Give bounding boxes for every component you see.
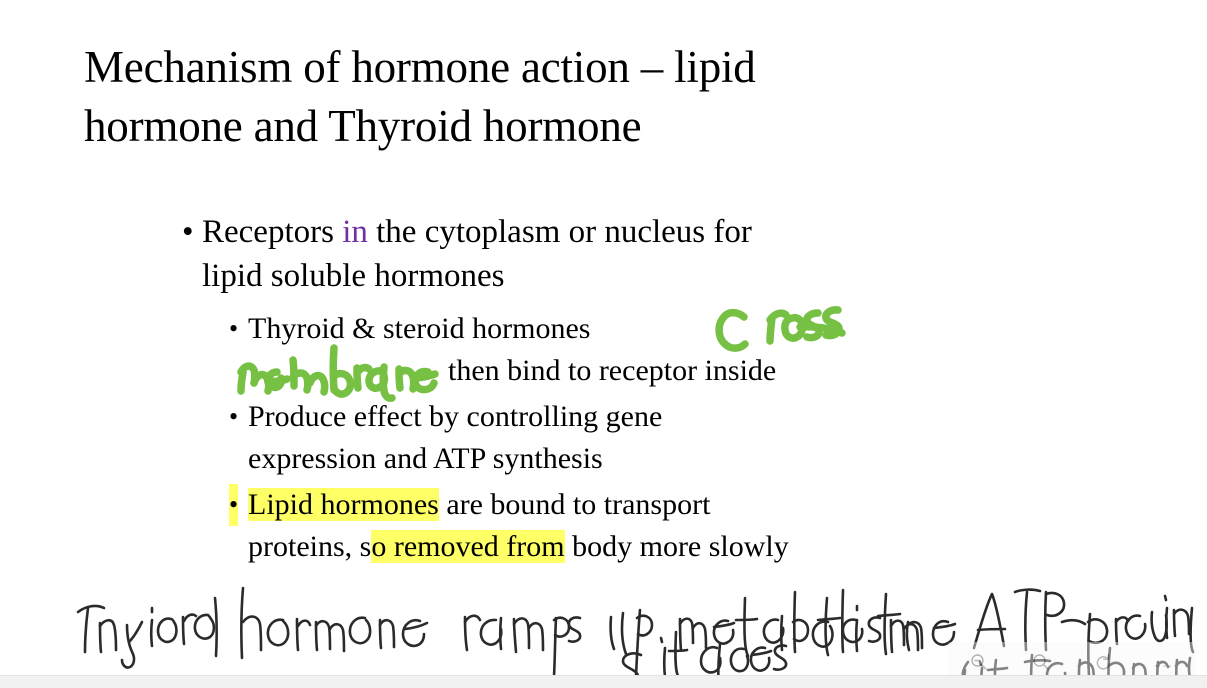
slide-body: • Receptors in the cytoplasm or nucleus …	[180, 210, 1140, 569]
bullet-text-segment: Receptors	[202, 214, 342, 250]
zoom-out-icon[interactable]	[962, 647, 996, 677]
bullet-text-segment: are bound to transport	[439, 488, 711, 521]
bullet-glyph: •	[182, 210, 194, 254]
bullet-text-emphasis-in: in	[342, 214, 368, 250]
bullet-line-1: Produce effect by controlling gene	[248, 396, 1140, 438]
bullet-line-2: proteins, so removed from body more slow…	[248, 526, 1140, 568]
bullet-glyph: •	[229, 484, 238, 526]
bullet-glyph: •	[229, 396, 238, 438]
bullet-line-1: Receptors in the cytoplasm or nucleus fo…	[202, 210, 1140, 254]
bullet-text-segment: proteins, s	[248, 530, 371, 563]
bullet-text-segment: the cytoplasm or nucleus for	[368, 214, 752, 250]
bullet-glyph: •	[229, 308, 238, 350]
bullet-item-produce-effect: • Produce effect by controlling gene exp…	[226, 396, 1140, 480]
reset-rotate-icon[interactable]	[1086, 647, 1120, 677]
highlighted-text-lipid-hormones: Lipid hormones	[248, 488, 439, 521]
title-line-2: hormone and Thyroid hormone	[84, 97, 984, 156]
title-line-1: Mechanism of hormone action – lipid	[84, 38, 984, 97]
highlighted-text-removed-from: o removed from	[371, 530, 564, 563]
bullet-line-1: Thyroid & steroid hormones	[248, 308, 1140, 350]
bullet-item-thyroid-steroid: • Thyroid & steroid hormones then bind t…	[226, 308, 1140, 392]
zoom-in-icon[interactable]	[1024, 647, 1058, 677]
bullet-line-2: expression and ATP synthesis	[248, 438, 1140, 480]
page-title: Mechanism of hormone action – lipid horm…	[84, 38, 984, 156]
bullet-item-receptors: • Receptors in the cytoplasm or nucleus …	[180, 210, 1140, 298]
bullet-item-lipid-hormones: • Lipid hormones are bound to transport …	[226, 484, 1140, 568]
more-options-label: …	[1156, 658, 1174, 666]
bullet-line-1: Lipid hormones are bound to transport	[248, 484, 1140, 526]
bullet-line-2: lipid soluble hormones	[202, 254, 1140, 298]
viewer-bottom-strip	[0, 675, 1207, 688]
more-options-icon[interactable]: …	[1148, 647, 1182, 677]
bullet-line-2: then bind to receptor inside	[448, 350, 1140, 392]
slide-canvas: Mechanism of hormone action – lipid horm…	[0, 0, 1207, 688]
bullet-text-segment: then bind to receptor inside	[448, 354, 776, 387]
bullet-text-segment: body more slowly	[565, 530, 789, 563]
bullet-text-segment: Thyroid & steroid hormones	[248, 312, 590, 345]
